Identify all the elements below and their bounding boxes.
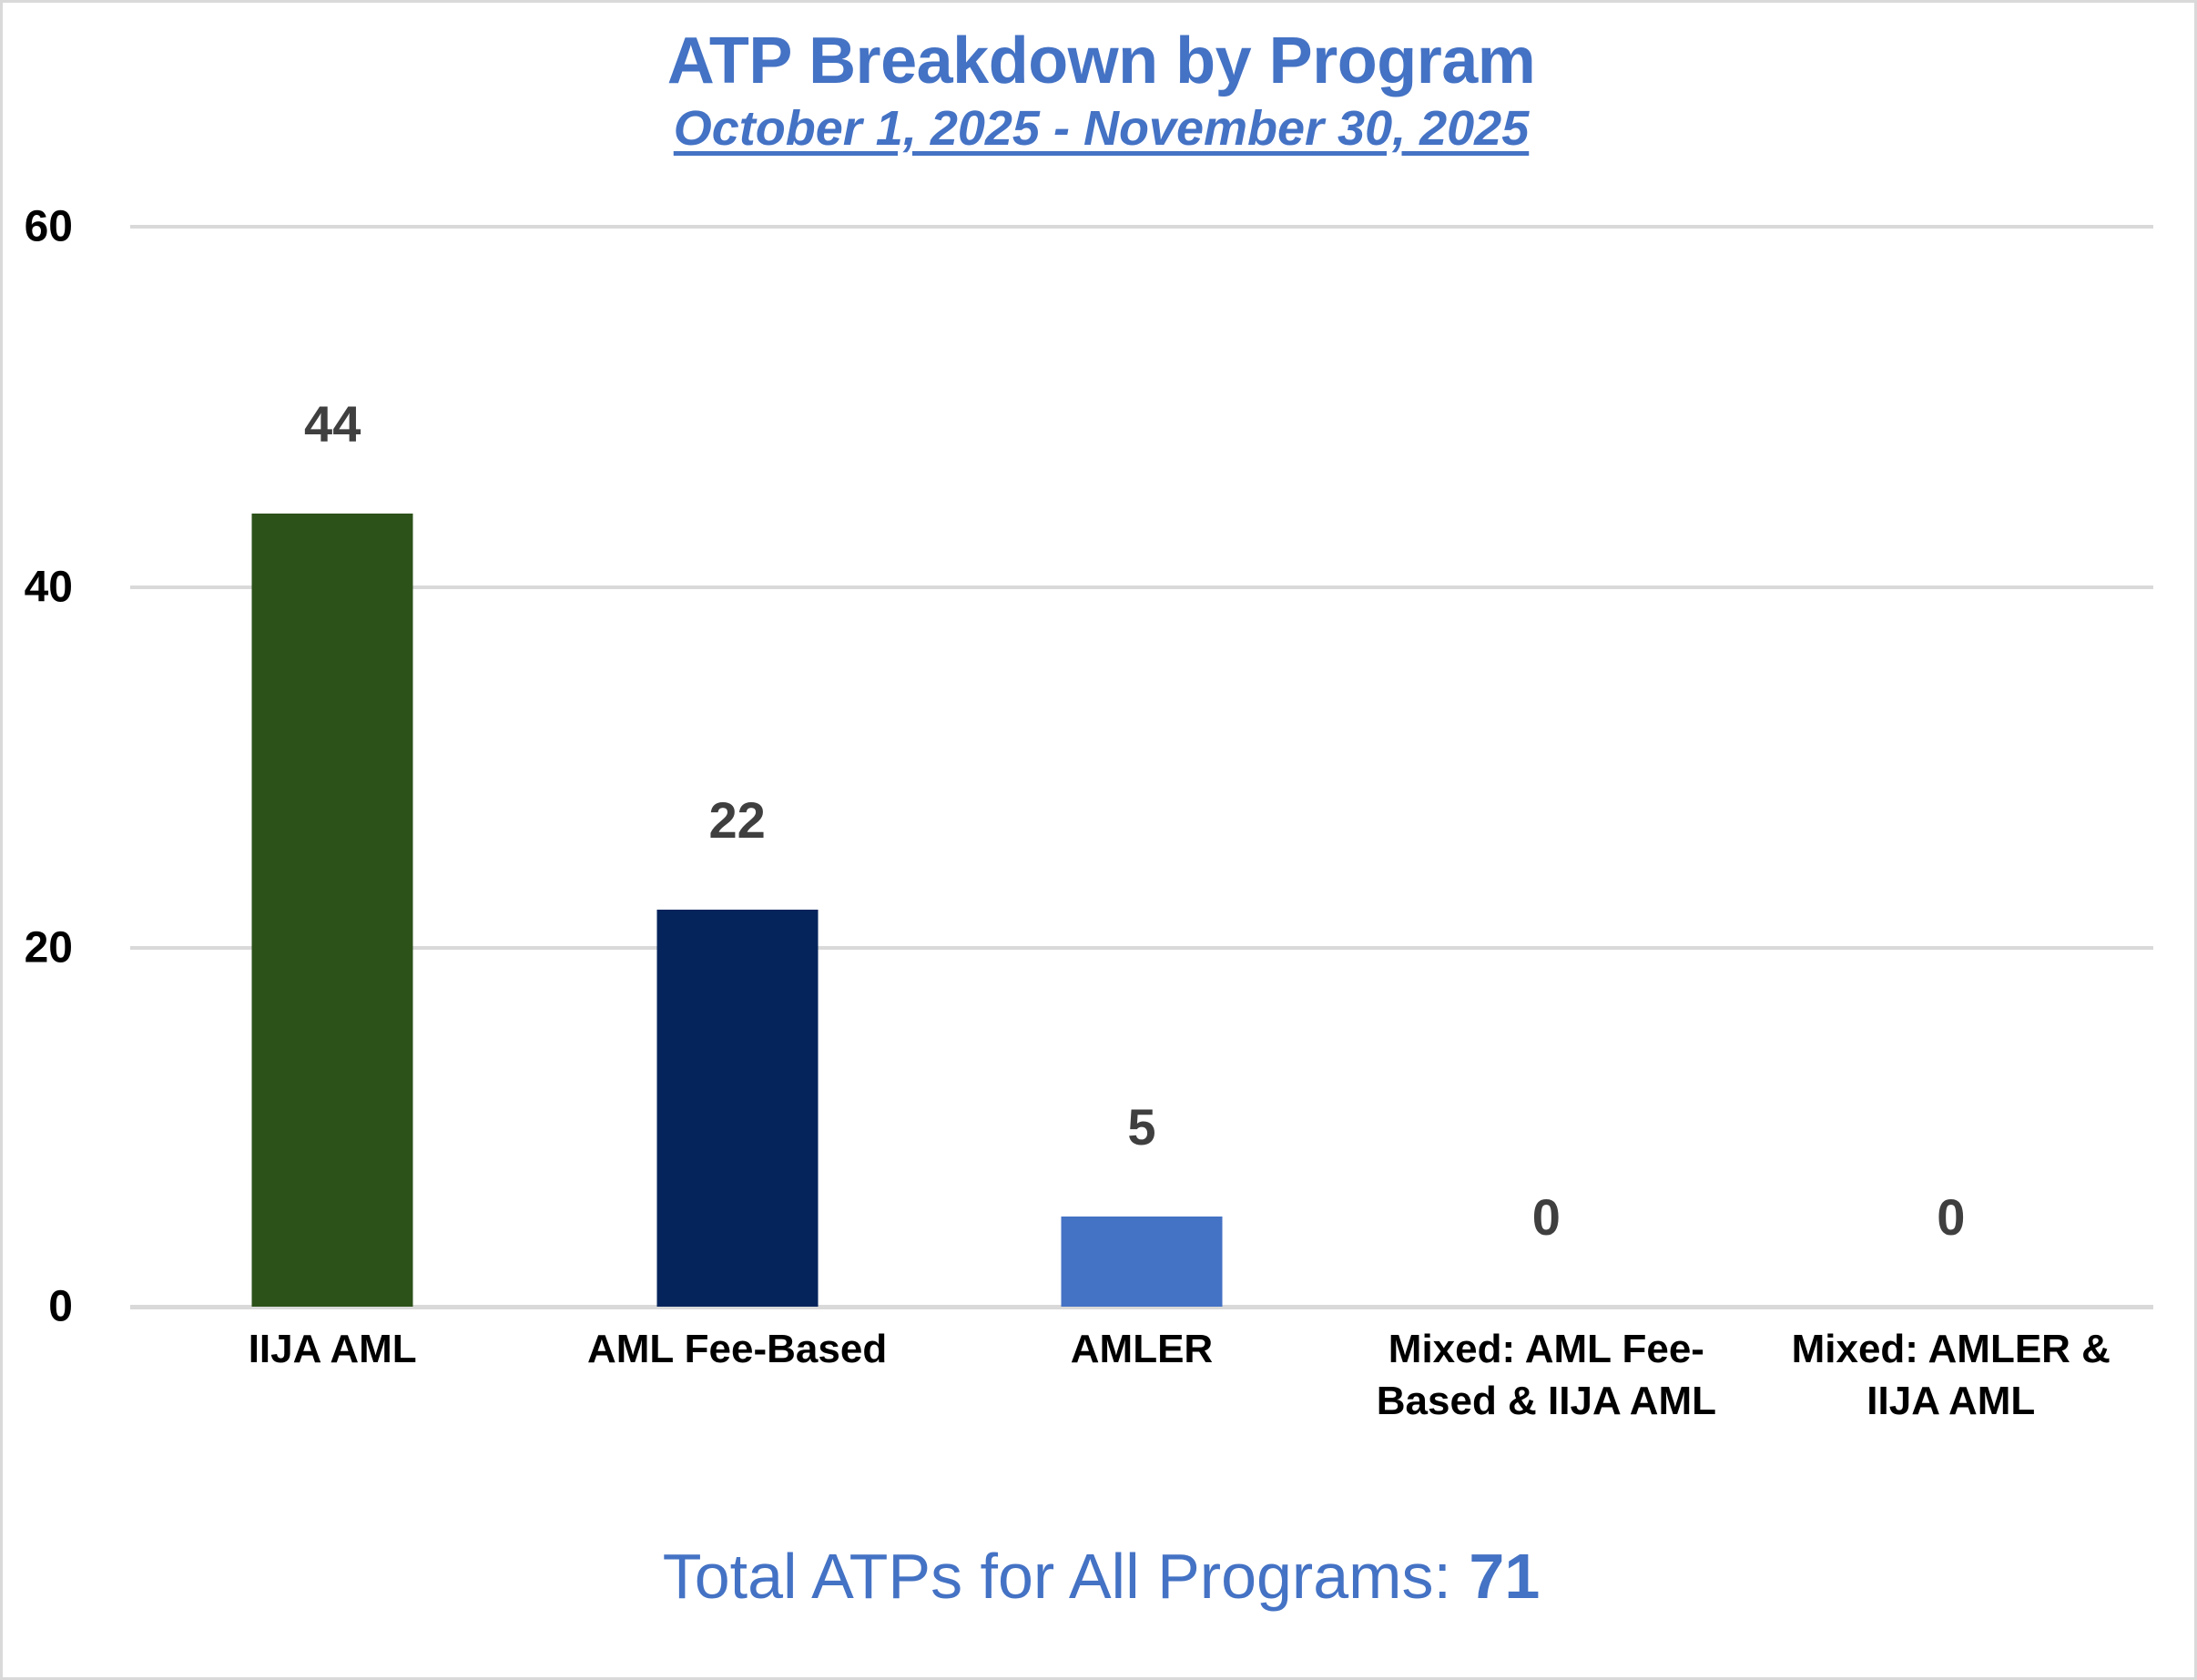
x-label-iija-aml-line1: IIJA AML (137, 1323, 527, 1375)
x-label-mixed-amler-iija-aml-line1: Mixed: AMLER & (1756, 1323, 2146, 1375)
x-axis-labels: IIJA AML AML Fee-Based AMLER Mixed: AML … (130, 1323, 2153, 1496)
bar-value-label-aml-fee-based: 22 (534, 795, 939, 846)
bar-iija-aml[interactable] (252, 514, 413, 1307)
chart-container: ATP Breakdown by Program October 1, 2025… (0, 0, 2197, 1680)
bar-slot-mixed-amler-iija-aml: 0 (1749, 225, 2153, 1307)
chart-title-block: ATP Breakdown by Program October 1, 2025… (3, 26, 2197, 157)
total-atps-footer: Total ATPs for All Programs: 71 (3, 1542, 2197, 1612)
bar-value-label-amler: 5 (940, 1102, 1344, 1153)
total-atps-value: 71 (1469, 1541, 1540, 1612)
x-label-mixed-aml-fee-based-iija-aml-line1: Mixed: AML Fee- (1351, 1323, 1741, 1375)
total-atps-label: Total ATPs for All Programs: (663, 1541, 1470, 1612)
plot-area: 60 40 20 0 44 22 5 0 0 (130, 225, 2153, 1307)
x-label-amler: AMLER (940, 1323, 1344, 1375)
x-label-aml-fee-based-line1: AML Fee-Based (542, 1323, 931, 1375)
bar-slot-mixed-aml-fee-based-iija-aml: 0 (1344, 225, 1748, 1307)
x-label-mixed-amler-iija-aml-line2: IIJA AML (1756, 1375, 2146, 1427)
bar-value-label-mixed-amler-iija-aml: 0 (1749, 1192, 2153, 1243)
y-tick-label-60: 60 (0, 202, 73, 252)
y-tick-label-20: 20 (0, 923, 73, 973)
x-label-mixed-amler-iija-aml: Mixed: AMLER & IIJA AML (1749, 1323, 2153, 1427)
bar-slot-amler: 5 (940, 225, 1344, 1307)
chart-subtitle: October 1, 2025 - November 30, 2025 (674, 101, 1530, 156)
x-label-mixed-aml-fee-based-iija-aml-line2: Based & IIJA AML (1351, 1375, 1741, 1427)
y-tick-label-40: 40 (0, 563, 73, 613)
x-label-aml-fee-based: AML Fee-Based (534, 1323, 939, 1375)
bar-value-label-mixed-aml-fee-based-iija-aml: 0 (1344, 1192, 1748, 1243)
bar-amler[interactable] (1061, 1217, 1222, 1307)
x-label-iija-aml: IIJA AML (130, 1323, 534, 1375)
chart-title: ATP Breakdown by Program (3, 26, 2197, 96)
bar-slot-aml-fee-based: 22 (534, 225, 939, 1307)
bar-aml-fee-based[interactable] (656, 910, 818, 1307)
x-label-amler-line1: AMLER (947, 1323, 1337, 1375)
bar-slot-iija-aml: 44 (130, 225, 534, 1307)
bars-layer: 44 22 5 0 0 (130, 225, 2153, 1307)
bar-value-label-iija-aml: 44 (130, 399, 534, 450)
x-label-mixed-aml-fee-based-iija-aml: Mixed: AML Fee- Based & IIJA AML (1344, 1323, 1748, 1427)
y-tick-label-0: 0 (0, 1282, 73, 1332)
